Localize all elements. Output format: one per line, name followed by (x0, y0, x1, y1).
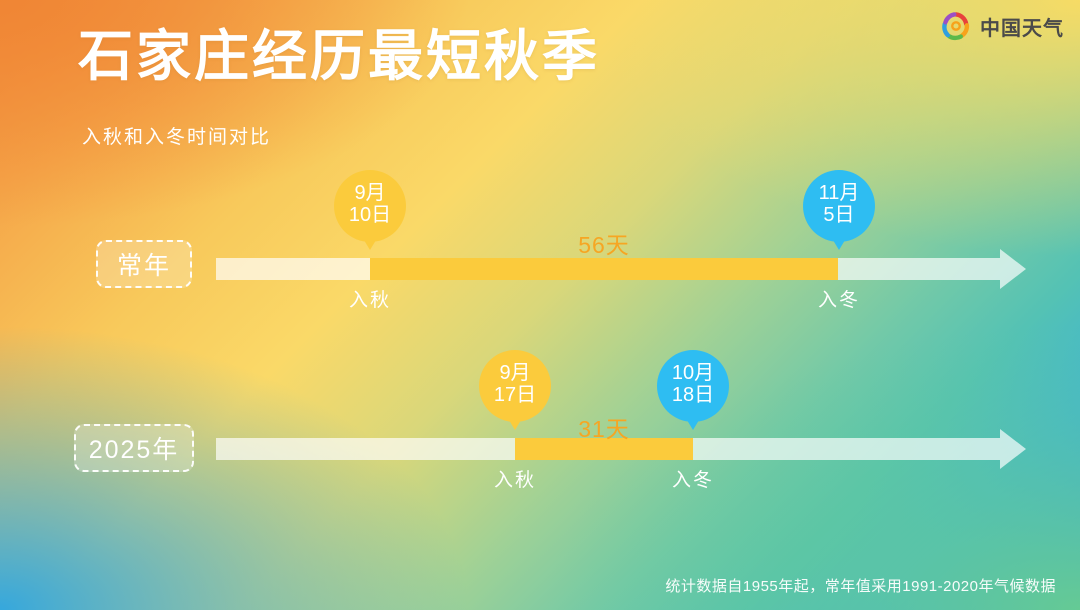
caption-winter-start-2025: 入冬 (672, 465, 714, 492)
pin-autumn-start-2025: 9月17日 (479, 350, 551, 422)
caption-winter-start-normal: 入冬 (818, 285, 860, 312)
footer-note: 统计数据自1955年起，常年值采用1991-2020年气候数据 (665, 575, 1056, 596)
pin-autumn-start-normal: 9月10日 (334, 170, 406, 242)
duration-label-2025: 31天 (578, 410, 630, 444)
brand-logo: 中国天气 (939, 9, 1064, 43)
pin-winter-start-2025: 10月18日 (657, 350, 729, 422)
page-subtitle: 入秋和入冬时间对比 (82, 122, 271, 149)
pin-date-month: 11月5日 (819, 182, 860, 227)
pre-autumn-segment-2025 (216, 438, 515, 460)
pin-label-winter-start-2025: 10月18日 (657, 350, 729, 418)
brand-logo-text: 中国天气 (980, 12, 1064, 41)
row-label-2025: 2025年 (74, 424, 194, 472)
pin-date-month: 10月18日 (672, 362, 714, 407)
timeline-track-normal (216, 258, 1026, 280)
row-label-normal: 常年 (96, 240, 192, 288)
pre-autumn-segment-normal (216, 258, 370, 280)
pinwheel-logo-icon (939, 9, 973, 43)
pin-label-autumn-start-normal: 9月10日 (334, 170, 406, 238)
pin-date-month: 9月17日 (494, 362, 536, 407)
post-winter-segment-2025 (693, 438, 1000, 460)
post-winter-segment-normal (838, 258, 1000, 280)
timeline-arrow-2025 (1000, 429, 1026, 469)
page-title: 石家庄经历最短秋季 (78, 26, 600, 87)
pin-label-autumn-start-2025: 9月17日 (479, 350, 551, 418)
pin-date-month: 9月10日 (349, 182, 391, 227)
pin-winter-start-normal: 11月5日 (803, 170, 875, 242)
autumn-segment-normal (370, 258, 838, 280)
timeline-arrow-normal (1000, 249, 1026, 289)
duration-label-normal: 56天 (578, 226, 630, 260)
caption-autumn-start-normal: 入秋 (349, 285, 391, 312)
pin-label-winter-start-normal: 11月5日 (803, 170, 875, 238)
infographic-canvas: 中国天气 石家庄经历最短秋季 入秋和入冬时间对比 常年 9月10日 11月5日 … (0, 0, 1080, 610)
caption-autumn-start-2025: 入秋 (494, 465, 536, 492)
